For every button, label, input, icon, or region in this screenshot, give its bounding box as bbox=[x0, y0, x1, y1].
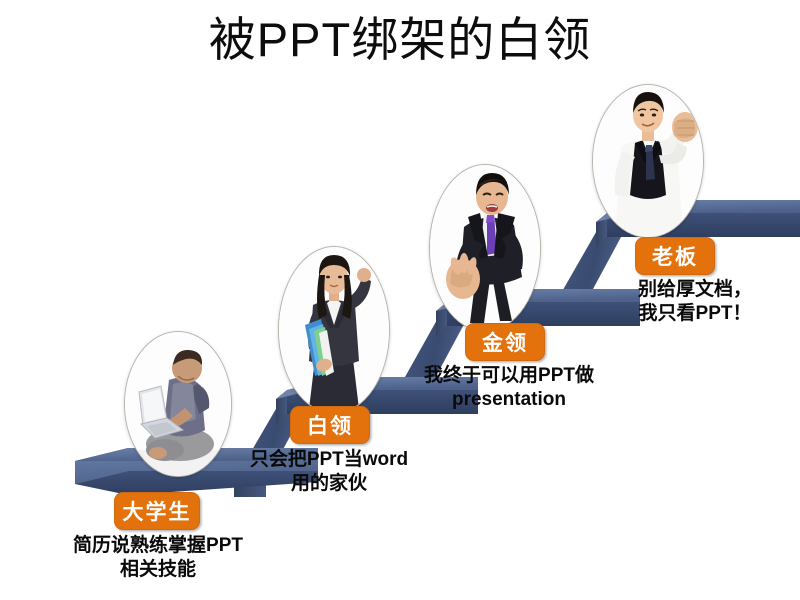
step-badge-3-label: 金领 bbox=[482, 327, 528, 357]
person-photo-4 bbox=[592, 84, 704, 238]
step-badge-2-label: 白领 bbox=[307, 410, 353, 440]
step-badge-4-label: 老板 bbox=[652, 241, 698, 271]
step-badge-3[interactable]: 金领 bbox=[465, 323, 545, 361]
person-photo-1 bbox=[124, 331, 232, 477]
step-caption-2: 只会把PPT当word 用的家伙 bbox=[226, 448, 432, 497]
step-badge-1[interactable]: 大学生 bbox=[114, 492, 200, 530]
step-badge-2[interactable]: 白领 bbox=[290, 406, 370, 444]
step-caption-1: 简历说熟练掌握PPT 相关技能 bbox=[36, 534, 280, 583]
page-title: 被PPT绑架的白领 bbox=[0, 14, 800, 66]
person-photo-3 bbox=[429, 164, 541, 332]
step-caption-4: 别给厚文档， 我只看PPT！ bbox=[600, 278, 790, 327]
presentation-slide: 被PPT绑架的白领 bbox=[0, 0, 800, 600]
person-photo-2 bbox=[278, 246, 390, 414]
step-badge-4[interactable]: 老板 bbox=[635, 237, 715, 275]
step-caption-3: 我终于可以用PPT做 presentation bbox=[404, 364, 614, 413]
step-badge-1-label: 大学生 bbox=[123, 496, 192, 526]
